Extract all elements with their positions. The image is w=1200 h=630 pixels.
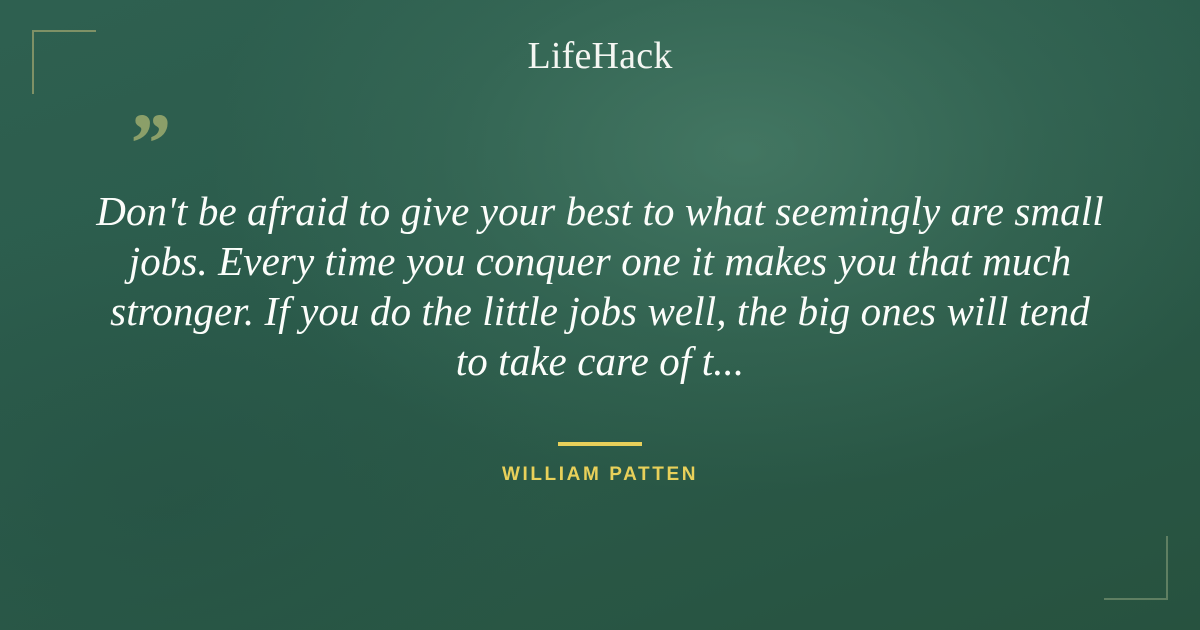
corner-bracket-bottom-right — [1104, 536, 1168, 600]
quote-block: Don't be afraid to give your best to wha… — [96, 186, 1104, 386]
divider-rule — [558, 442, 642, 446]
quote-card: LifeHack ” Don't be afraid to give your … — [0, 0, 1200, 630]
brand-logo-text: LifeHack — [527, 36, 672, 78]
brand-logo: LifeHack — [0, 36, 1200, 78]
author-name: WILLIAM PATTEN — [502, 464, 698, 486]
author-attribution: WILLIAM PATTEN — [0, 464, 1200, 486]
divider — [0, 433, 1200, 451]
quotation-mark-icon: ” — [126, 100, 169, 186]
quote-text: Don't be afraid to give your best to wha… — [96, 186, 1104, 386]
